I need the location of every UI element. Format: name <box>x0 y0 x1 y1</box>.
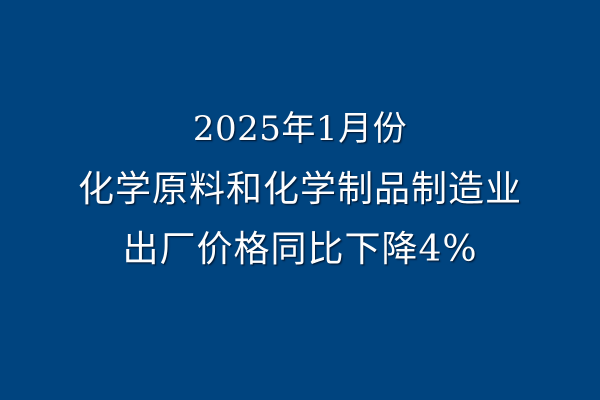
headline-block: 2025年1月份 化学原料和化学制品制造业 出厂价格同比下降4% <box>0 0 600 400</box>
news-headline-card: 2025年1月份 化学原料和化学制品制造业 出厂价格同比下降4% <box>0 0 600 400</box>
headline-line-metric: 出厂价格同比下降4% <box>0 232 600 268</box>
headline-line-industry: 化学原料和化学制品制造业 <box>0 172 600 208</box>
headline-line-period: 2025年1月份 <box>0 112 600 146</box>
